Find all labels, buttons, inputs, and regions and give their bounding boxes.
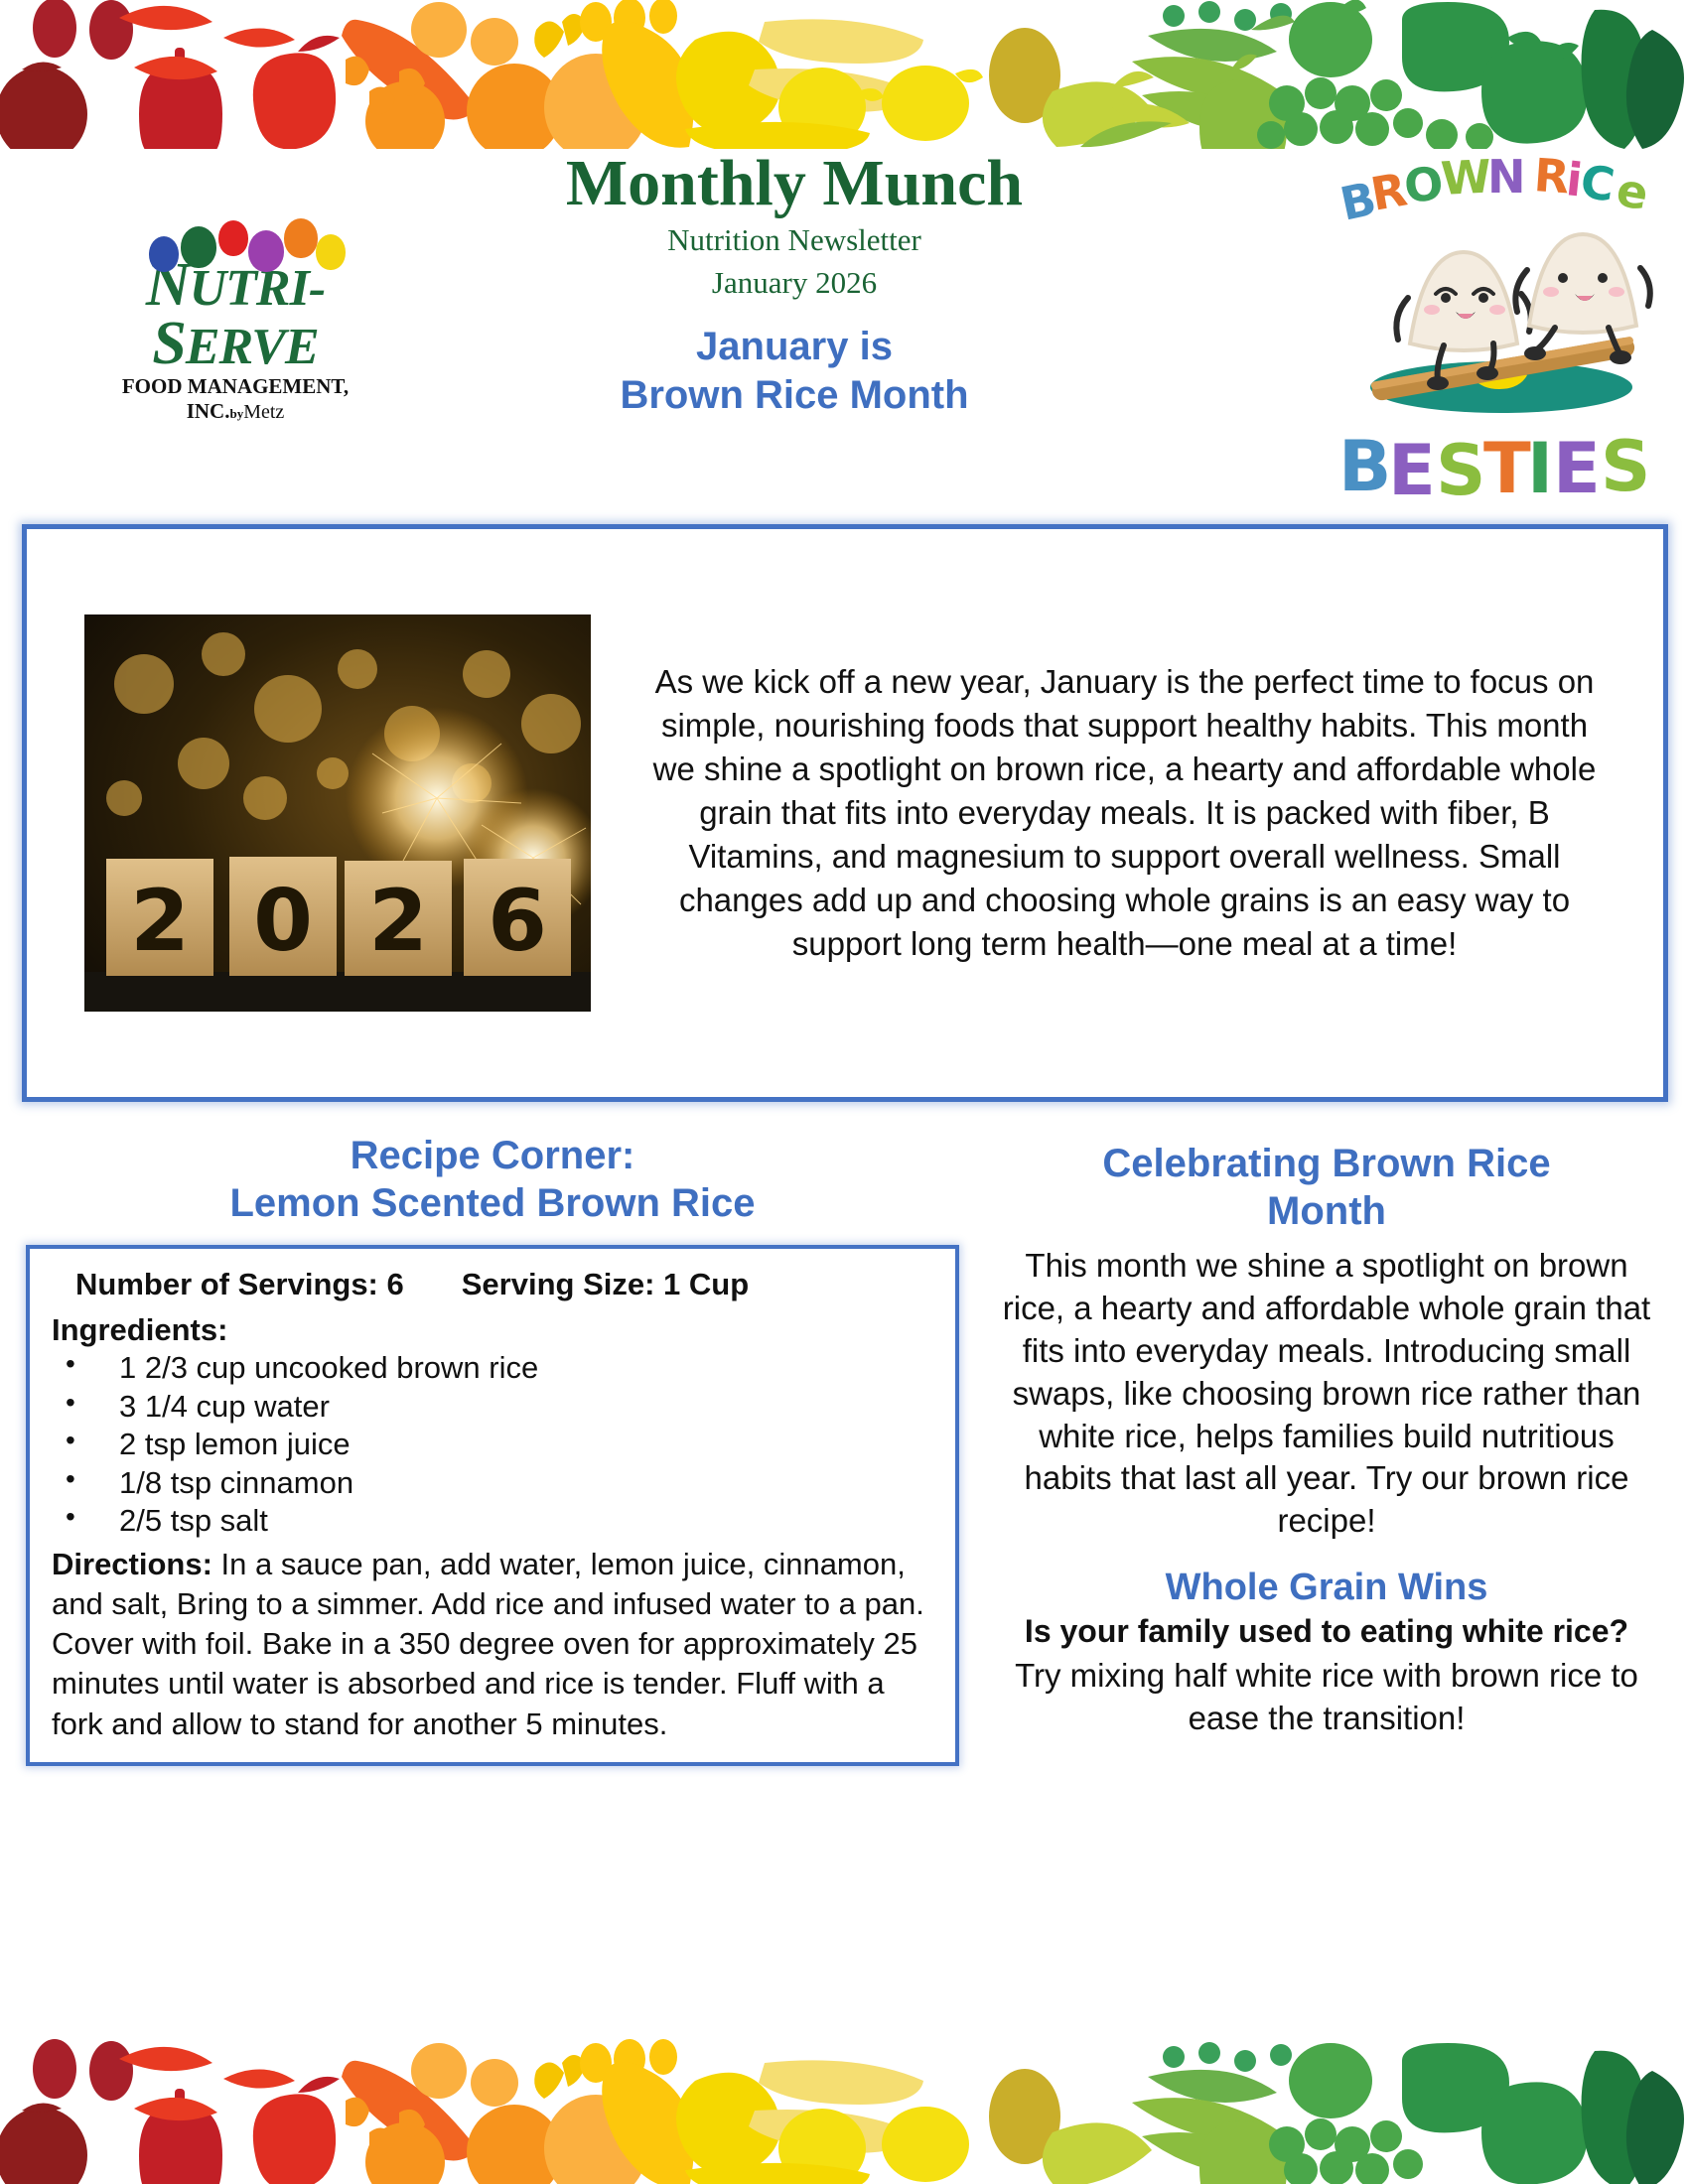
svg-text:C: C	[1577, 154, 1618, 211]
logo-wordmark: NUTRI-SERVE	[71, 256, 399, 373]
whole-grain-question: Is your family used to eating white rice…	[993, 1611, 1660, 1651]
list-item: 3 1/4 cup water	[52, 1388, 933, 1426]
celebrating-heading: Celebrating Brown Rice Month	[993, 1140, 1660, 1235]
masthead-kicker: January is Brown Rice Month	[427, 323, 1162, 420]
logo-tagline: FOOD MANAGEMENT, INC.byMetz	[71, 374, 399, 424]
recipe-box: Number of Servings: 6 Serving Size: 1 Cu…	[26, 1245, 959, 1766]
celebrating-heading-line1: Celebrating Brown Rice	[993, 1140, 1660, 1187]
intro-paragraph: As we kick off a new year, January is th…	[591, 660, 1663, 965]
svg-text:2: 2	[368, 872, 428, 971]
masthead-kicker-line1: January is	[427, 323, 1162, 371]
balloon-yellow	[316, 234, 346, 270]
svg-text:0: 0	[253, 872, 313, 971]
list-item: 1/8 tsp cinnamon	[52, 1464, 933, 1502]
directions-label: Directions:	[52, 1547, 212, 1581]
number-of-servings: Number of Servings: 6	[75, 1265, 404, 1304]
svg-text:S: S	[1601, 426, 1650, 496]
recipe-corner-heading: Recipe Corner: Lemon Scented Brown Rice	[26, 1132, 959, 1227]
celebrating-body: This month we shine a spotlight on brown…	[993, 1245, 1660, 1543]
svg-text:2: 2	[130, 872, 190, 971]
svg-text:W: W	[1440, 149, 1493, 205]
list-item: 1 2/3 cup uncooked brown rice	[52, 1349, 933, 1387]
svg-text:6: 6	[488, 872, 547, 971]
whole-grain-wins-heading: Whole Grain Wins	[993, 1567, 1660, 1609]
celebrating-column: Celebrating Brown Rice Month This month …	[993, 1140, 1660, 1740]
logo-wordmark-erve: ERVE	[186, 319, 319, 375]
balloon-blue	[149, 236, 179, 272]
svg-text:E: E	[1388, 430, 1436, 496]
logo-wordmark-s: S	[152, 310, 185, 377]
svg-text:S: S	[1436, 430, 1485, 496]
masthead-issue-date: January 2026	[427, 264, 1162, 303]
whole-grain-answer: Try mixing half white rice with brown ri…	[993, 1655, 1660, 1740]
masthead: Monthly Munch Nutrition Newsletter Janua…	[427, 149, 1162, 419]
svg-text:O: O	[1402, 156, 1447, 213]
recipe-heading-line2: Lemon Scented Brown Rice	[26, 1179, 959, 1227]
list-item: 2/5 tsp salt	[52, 1502, 933, 1540]
newsletter-header: NUTRI-SERVE FOOD MANAGEMENT, INC.byMetz …	[0, 149, 1688, 516]
balloon-red	[218, 220, 248, 256]
masthead-subtitle-line1: Nutrition Newsletter	[427, 221, 1162, 260]
recipe-column: Recipe Corner: Lemon Scented Brown Rice …	[26, 1132, 959, 1766]
balloon-orange	[284, 218, 318, 258]
svg-text:E: E	[1553, 428, 1601, 496]
ingredients-list: 1 2/3 cup uncooked brown rice 3 1/4 cup …	[52, 1349, 933, 1540]
serving-size: Serving Size: 1 Cup	[462, 1265, 749, 1304]
page-title: Monthly Munch	[427, 149, 1162, 217]
recipe-heading-line1: Recipe Corner:	[26, 1132, 959, 1179]
list-item: 2 tsp lemon juice	[52, 1426, 933, 1463]
ingredients-label: Ingredients:	[52, 1310, 933, 1350]
svg-text:B: B	[1338, 426, 1391, 496]
svg-text:I: I	[1527, 428, 1553, 496]
intro-panel: 2 0 2 6 As we kick off a new year, Janua…	[22, 524, 1668, 1102]
celebrating-heading-line2: Month	[993, 1187, 1660, 1235]
svg-text:T: T	[1483, 428, 1531, 496]
produce-border-top	[0, 0, 1688, 149]
balloon-green	[181, 226, 216, 268]
logo-by: by	[229, 406, 243, 421]
masthead-kicker-line2: Brown Rice Month	[427, 371, 1162, 420]
new-year-2026-photo: 2 0 2 6	[84, 614, 591, 1012]
svg-text:N: N	[1487, 150, 1526, 204]
logo-balloons	[149, 220, 348, 266]
logo-parent-company: Metz	[243, 401, 284, 423]
balloon-purple	[248, 230, 284, 272]
produce-border-bottom	[0, 2035, 1688, 2184]
svg-text:e: e	[1613, 163, 1652, 221]
recipe-servings-row: Number of Servings: 6 Serving Size: 1 Cu…	[52, 1265, 933, 1304]
brown-rice-besties-illustration: B R O W N R i C e	[1333, 149, 1660, 496]
nutri-serve-logo: NUTRI-SERVE FOOD MANAGEMENT, INC.byMetz	[71, 220, 399, 424]
recipe-directions: Directions: In a sauce pan, add water, l…	[52, 1545, 933, 1744]
